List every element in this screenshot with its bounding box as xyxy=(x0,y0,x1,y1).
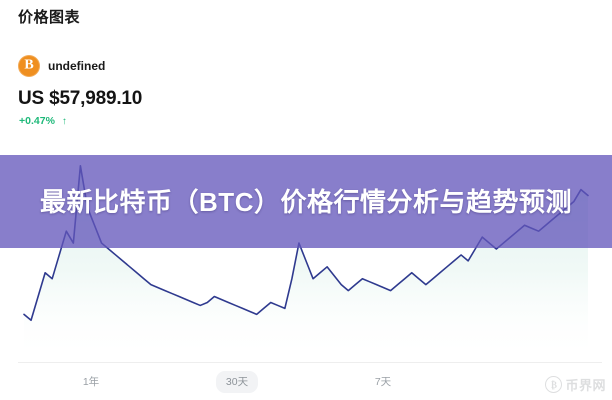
coin-name: undefined xyxy=(48,59,105,73)
range-tab-spacer-label xyxy=(519,381,539,385)
range-tab-7d[interactable]: 7天 xyxy=(310,371,456,393)
coin-summary-row: B undefined xyxy=(18,55,105,77)
watermark-coin-icon: ₿ xyxy=(545,376,562,393)
headline-title: 最新比特币（BTC）价格行情分析与趋势预测 xyxy=(26,184,586,220)
range-tab-7d-label: 7天 xyxy=(365,371,401,393)
range-tab-1y[interactable]: 1年 xyxy=(18,371,164,393)
headline-overlay-band: 最新比特币（BTC）价格行情分析与趋势预测 xyxy=(0,155,612,248)
bitcoin-icon: B xyxy=(18,55,40,77)
range-tab-1y-label: 1年 xyxy=(73,371,109,393)
price-change-percent: +0.47% xyxy=(19,115,55,127)
range-tab-30d-label: 30天 xyxy=(216,371,258,393)
current-price: US $57,989.10 xyxy=(18,88,142,110)
watermark: ₿ 币界网 xyxy=(545,375,606,394)
price-chart-screen: 价格图表 B undefined US $57,989.10 +0.47% ↑ xyxy=(0,0,612,400)
range-tabs: 1年 30天 7天 xyxy=(18,363,602,400)
watermark-text: 币界网 xyxy=(565,375,606,394)
bitcoin-icon-glyph: B xyxy=(24,59,33,73)
price-change: +0.47% ↑ xyxy=(19,115,67,127)
page-title: 价格图表 xyxy=(18,8,80,28)
range-tab-30d[interactable]: 30天 xyxy=(164,371,310,393)
arrow-up-icon: ↑ xyxy=(62,116,67,127)
